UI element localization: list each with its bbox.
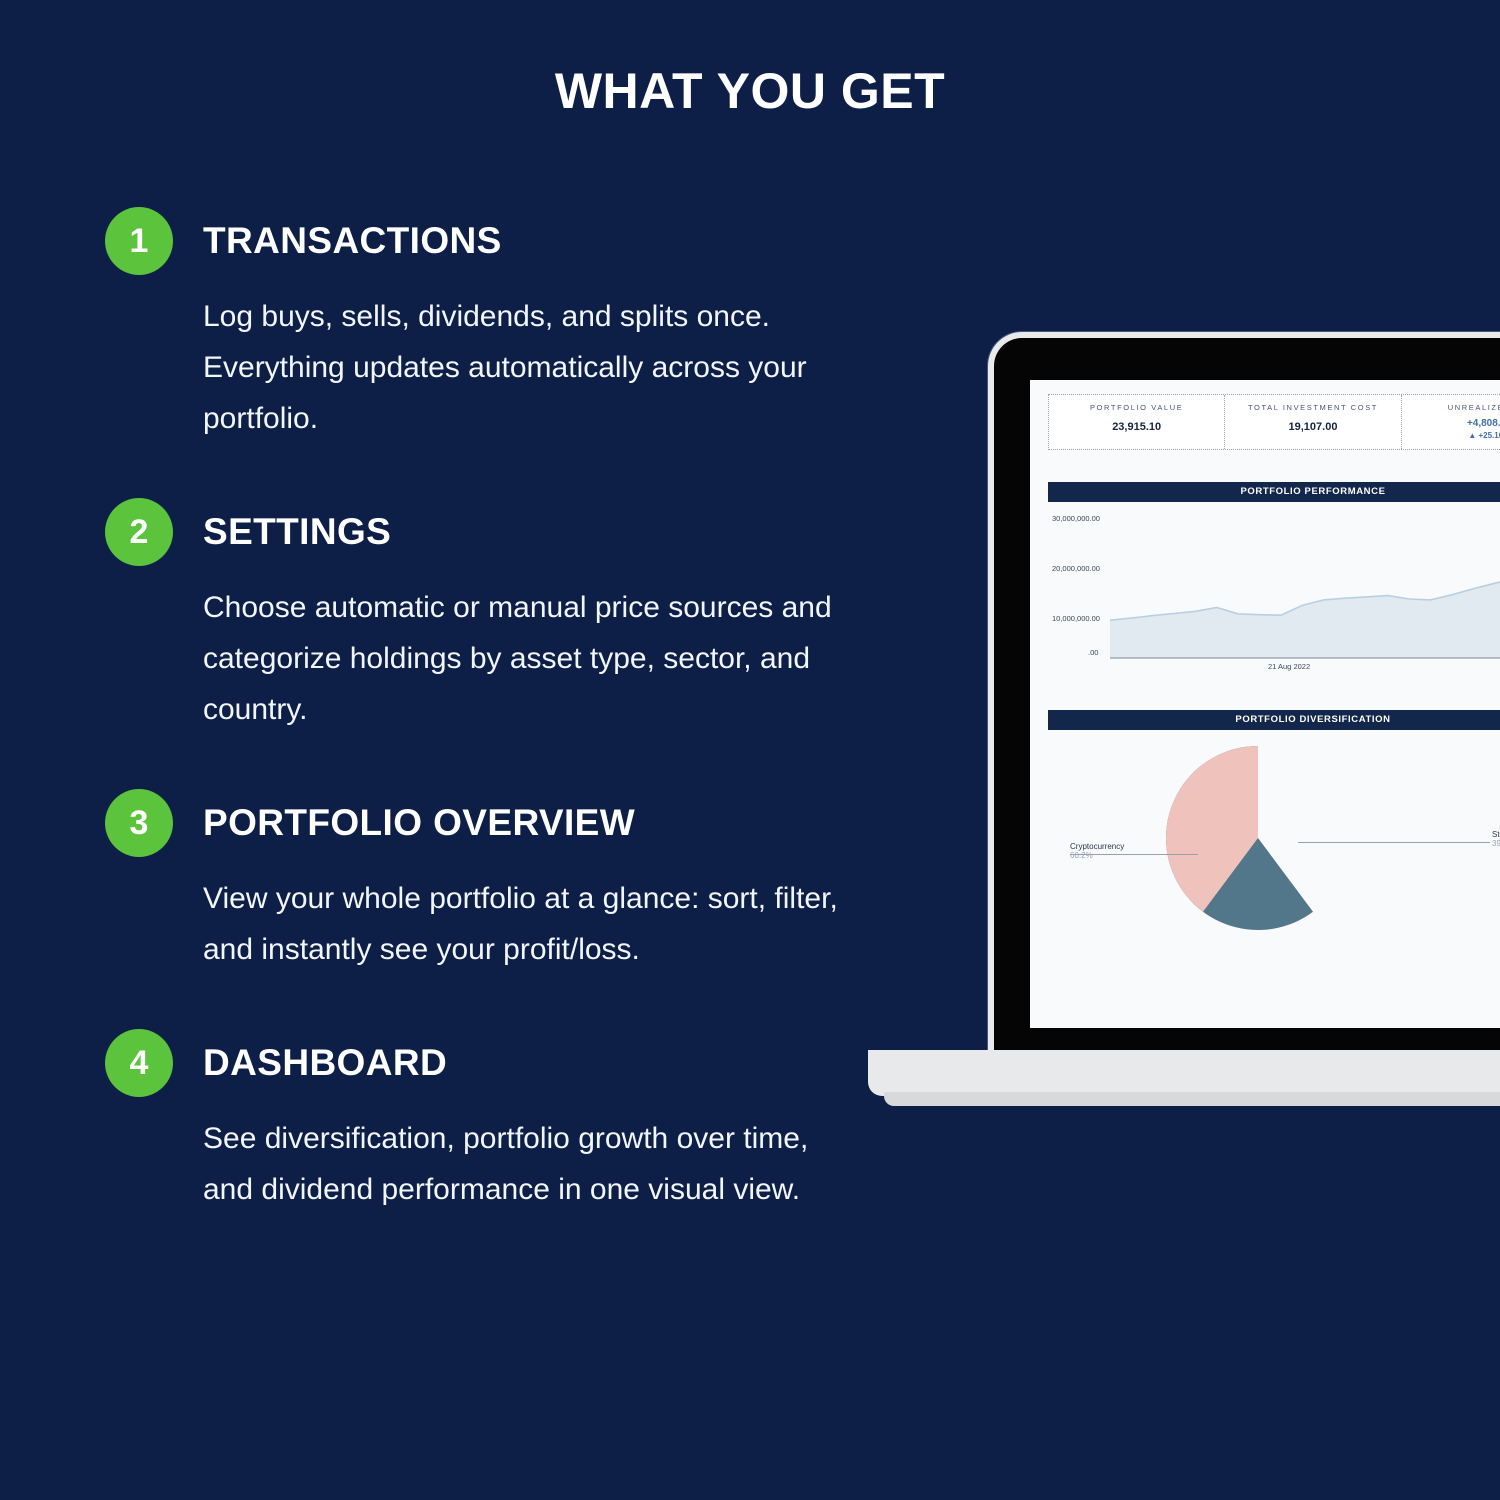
y-axis-tick: 20,000,000.00 xyxy=(1052,564,1100,573)
step-badge-2: 2 xyxy=(105,498,173,566)
kpi-value: +4,808.10 xyxy=(1406,418,1500,429)
feature-head: 4 DASHBOARD xyxy=(105,1027,885,1099)
y-axis-tick: .00 xyxy=(1088,648,1098,657)
step-badge-3: 3 xyxy=(105,789,173,857)
feature-title-3: PORTFOLIO OVERVIEW xyxy=(203,802,635,844)
kpi-label: PORTFOLIO VALUE xyxy=(1053,403,1220,412)
portfolio-performance-header: PORTFOLIO PERFORMANCE xyxy=(1048,482,1500,502)
pie-label-text: Cryptocurrency xyxy=(1070,842,1124,851)
portfolio-performance-chart: 30,000,000.00 20,000,000.00 10,000,000.0… xyxy=(1048,502,1500,682)
pie-label-percent: 39.8% xyxy=(1492,839,1500,848)
kpi-portfolio-value: PORTFOLIO VALUE 23,915.10 xyxy=(1049,395,1225,449)
kpi-unrealized-pl: UNREALIZED P/L +4,808.10 ▲ +25.16% xyxy=(1402,395,1500,449)
pie-label-percent: 60.2% xyxy=(1070,851,1093,860)
pie-label-text: Stocks xyxy=(1492,830,1500,839)
feature-description-3: View your whole portfolio at a glance: s… xyxy=(203,873,863,975)
portfolio-diversification-header: PORTFOLIO DIVERSIFICATION xyxy=(1048,710,1500,730)
feature-item-portfolio-overview: 3 PORTFOLIO OVERVIEW View your whole por… xyxy=(105,787,885,975)
kpi-strip: PORTFOLIO VALUE 23,915.10 TOTAL INVESTME… xyxy=(1048,394,1500,450)
pie-leader-line-stocks xyxy=(1298,842,1490,843)
x-axis-tick: 21 Aug 2022 xyxy=(1268,662,1310,671)
kpi-label: TOTAL INVESTMENT COST xyxy=(1229,403,1396,412)
page-title: WHAT YOU GET xyxy=(0,62,1500,120)
kpi-value: 19,107.00 xyxy=(1229,421,1396,433)
y-axis-tick: 10,000,000.00 xyxy=(1052,614,1100,623)
dashboard-screen-content: PORTFOLIO VALUE 23,915.10 TOTAL INVESTME… xyxy=(1030,380,1500,970)
laptop-screen: PORTFOLIO VALUE 23,915.10 TOTAL INVESTME… xyxy=(1030,380,1500,1028)
kpi-total-investment-cost: TOTAL INVESTMENT COST 19,107.00 xyxy=(1225,395,1401,449)
feature-item-dashboard: 4 DASHBOARD See diversification, portfol… xyxy=(105,1027,885,1215)
feature-head: 3 PORTFOLIO OVERVIEW xyxy=(105,787,885,859)
pie-label-cryptocurrency: Cryptocurrency 60.2% xyxy=(1070,842,1124,860)
feature-title-1: TRANSACTIONS xyxy=(203,220,502,262)
portfolio-performance-card: PORTFOLIO PERFORMANCE 30,000,000.00 20,0… xyxy=(1048,482,1500,682)
step-badge-1: 1 xyxy=(105,207,173,275)
laptop-base-lip xyxy=(884,1092,1500,1106)
performance-area-svg xyxy=(1110,506,1500,666)
feature-description-4: See diversification, portfolio growth ov… xyxy=(203,1113,863,1215)
feature-title-4: DASHBOARD xyxy=(203,1042,447,1084)
feature-description-2: Choose automatic or manual price sources… xyxy=(203,582,863,735)
kpi-value: 23,915.10 xyxy=(1053,421,1220,433)
laptop-mockup: PORTFOLIO VALUE 23,915.10 TOTAL INVESTME… xyxy=(868,332,1500,1132)
feature-description-1: Log buys, sells, dividends, and splits o… xyxy=(203,291,863,444)
laptop-base xyxy=(868,1050,1500,1096)
feature-title-2: SETTINGS xyxy=(203,511,391,553)
pie-label-stocks: Stocks 39.8% xyxy=(1492,830,1500,848)
kpi-label: UNREALIZED P/L xyxy=(1406,403,1500,412)
feature-head: 1 TRANSACTIONS xyxy=(105,205,885,277)
feature-head: 2 SETTINGS xyxy=(105,496,885,568)
step-badge-4: 4 xyxy=(105,1029,173,1097)
kpi-change-badge: ▲ +25.16% xyxy=(1406,431,1500,440)
portfolio-diversification-chart: Cryptocurrency 60.2% Stocks 39.8% xyxy=(1048,730,1500,970)
feature-item-settings: 2 SETTINGS Choose automatic or manual pr… xyxy=(105,496,885,735)
diversification-pie-svg xyxy=(1158,738,1358,938)
y-axis-tick: 30,000,000.00 xyxy=(1052,514,1100,523)
feature-list: 1 TRANSACTIONS Log buys, sells, dividend… xyxy=(105,205,885,1267)
feature-item-transactions: 1 TRANSACTIONS Log buys, sells, dividend… xyxy=(105,205,885,444)
portfolio-diversification-card: PORTFOLIO DIVERSIFICATION Cryptocurrency… xyxy=(1048,710,1500,970)
